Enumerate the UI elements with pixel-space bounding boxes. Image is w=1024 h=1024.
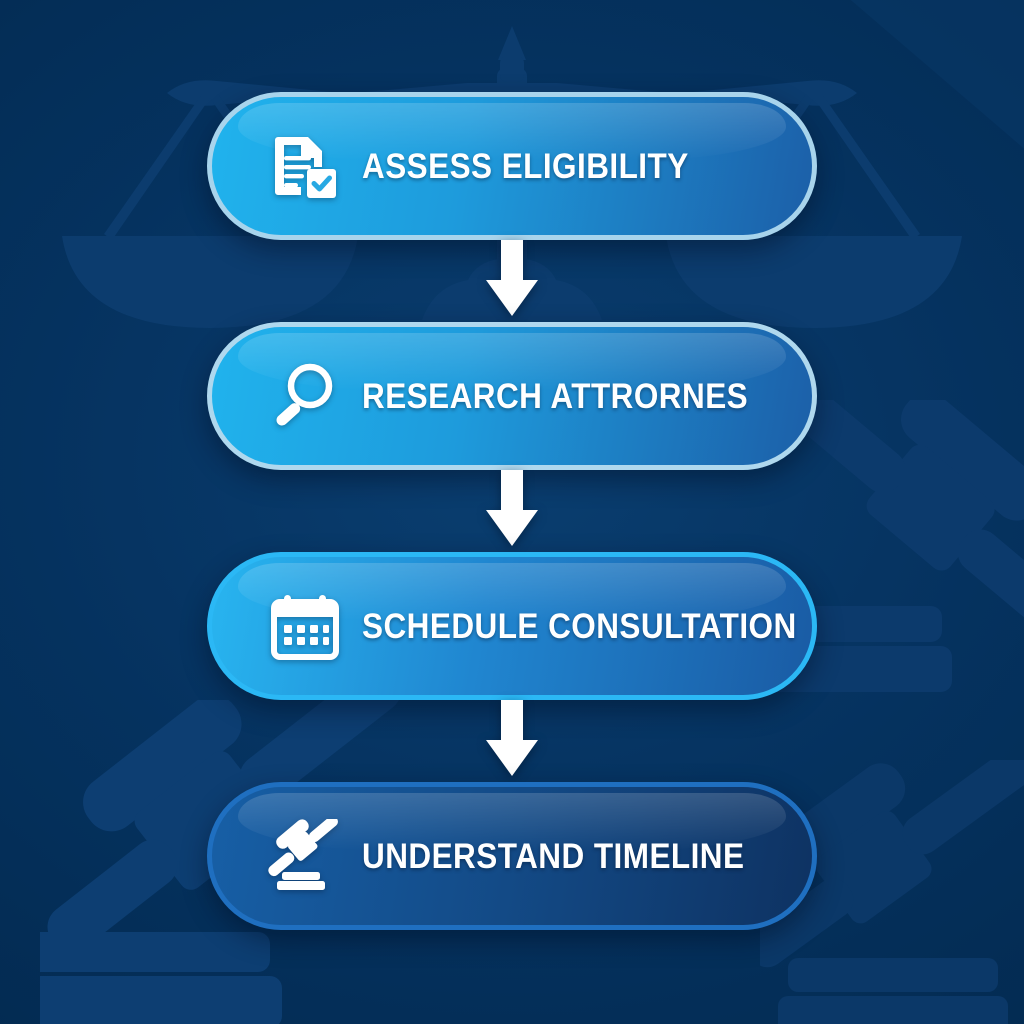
document-checklist-icon: [268, 129, 342, 203]
step-card-research-attorneys[interactable]: RESEARCH ATTRORNES: [207, 322, 817, 470]
step-label: UNDERSTAND TIMELINE: [362, 839, 744, 874]
step-card-understand-timeline[interactable]: UNDERSTAND TIMELINE: [207, 782, 817, 930]
arrow-step2-to-step3: [475, 470, 549, 552]
gavel-icon: [268, 819, 342, 893]
process-flow: ASSESS ELIGIBILITY RESEARCH ATTRORNES: [0, 0, 1024, 1024]
arrow-step1-to-step2: [475, 240, 549, 322]
step-card-assess-eligibility[interactable]: ASSESS ELIGIBILITY: [207, 92, 817, 240]
step-label: RESEARCH ATTRORNES: [362, 379, 748, 414]
legal-process-infographic: ASSESS ELIGIBILITY RESEARCH ATTRORNES: [0, 0, 1024, 1024]
calendar-icon: [268, 589, 342, 663]
magnifying-glass-icon: [268, 359, 342, 433]
step-label: SCHEDULE CONSULTATION: [362, 609, 797, 644]
arrow-step3-to-step4: [475, 700, 549, 782]
step-label: ASSESS ELIGIBILITY: [362, 149, 689, 184]
step-card-schedule-consultation[interactable]: SCHEDULE CONSULTATION: [207, 552, 817, 700]
